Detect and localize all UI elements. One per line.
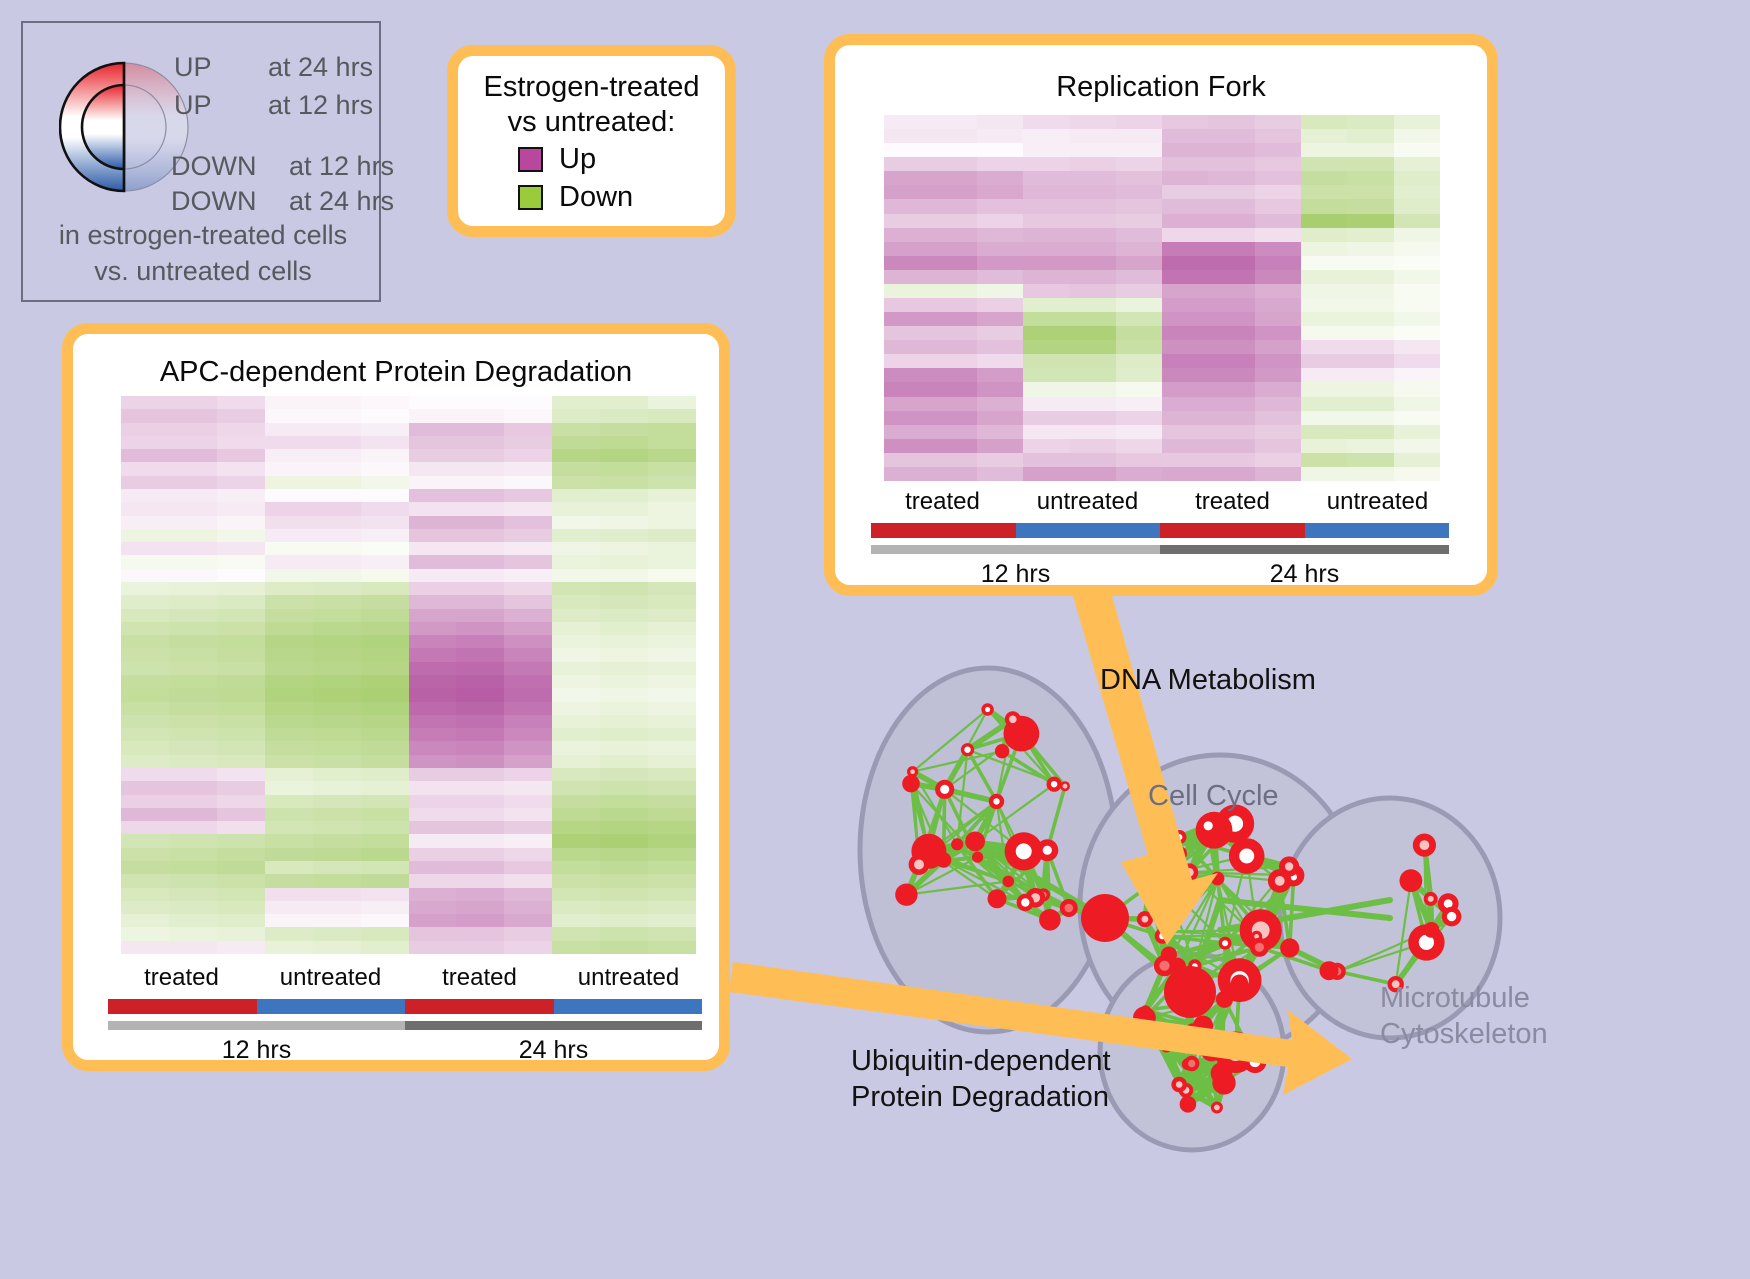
rf-bar-treated-12	[871, 523, 1016, 538]
apc-timebar-24	[405, 1021, 702, 1030]
apc-timepoint-bar	[108, 1021, 702, 1030]
rf-timepoint-labels: 12 hrs 24 hrs	[871, 560, 1449, 589]
label-dna-metabolism: DNA Metabolism	[1100, 664, 1316, 697]
apc-title: APC-dependent Protein Degradation	[73, 356, 719, 389]
colour-key-box: UP at 24 hrs UP at 12 hrs DOWN at 12 hrs…	[21, 21, 381, 302]
label-microtubule-cytoskeleton: Microtubule Cytoskeleton	[1380, 980, 1548, 1053]
apc-bar-untreated-24	[554, 999, 703, 1014]
key-footer-line2: vs. untreated cells	[23, 254, 383, 290]
rf-group-label-2: treated	[1160, 488, 1305, 516]
rf-group-label-1: untreated	[1015, 488, 1160, 516]
key-footer: in estrogen-treated cells vs. untreated …	[23, 218, 383, 289]
key-label-up-12: UP	[174, 90, 212, 121]
legend-heading-line2: vs untreated:	[458, 105, 725, 140]
replication-fork-heatmap	[884, 115, 1440, 481]
rf-group-label-0: treated	[870, 488, 1015, 516]
legend-label-up: Up	[559, 145, 596, 174]
replication-fork-panel: Replication Fork treated untreated treat…	[824, 34, 1498, 596]
apc-group-label-2: treated	[405, 964, 554, 992]
legend-swatch-down	[518, 185, 543, 210]
legend-heading-line1: Estrogen-treated	[458, 70, 725, 105]
rf-bar-untreated-12	[1016, 523, 1161, 538]
legend-heading: Estrogen-treated vs untreated:	[458, 70, 725, 141]
apc-bar-treated-24	[405, 999, 554, 1014]
key-time-down-12: at 12 hrs	[289, 151, 394, 182]
apc-bar-treated-12	[108, 999, 257, 1014]
rf-timebar-24	[1160, 545, 1449, 554]
key-time-up-24: at 24 hrs	[268, 52, 373, 83]
key-time-up-12: at 12 hrs	[268, 90, 373, 121]
rf-bar-untreated-24	[1305, 523, 1450, 538]
apc-group-label-3: untreated	[554, 964, 703, 992]
key-label-up-24: UP	[174, 52, 212, 83]
rf-timebar-12	[871, 545, 1160, 554]
legend-item-down: Down	[518, 183, 633, 212]
key-label-down-24: DOWN	[171, 186, 256, 217]
rf-group-label-3: untreated	[1305, 488, 1450, 516]
key-footer-line1: in estrogen-treated cells	[23, 218, 383, 254]
label-cell-cycle: Cell Cycle	[1148, 780, 1279, 813]
figure-canvas: UP at 24 hrs UP at 12 hrs DOWN at 12 hrs…	[0, 0, 1750, 1279]
legend-item-up: Up	[518, 145, 596, 174]
legend-label-down: Down	[559, 183, 633, 212]
key-label-down-12: DOWN	[171, 151, 256, 182]
apc-group-label-1: untreated	[256, 964, 405, 992]
apc-bar-untreated-12	[257, 999, 406, 1014]
rf-group-colour-bar	[871, 523, 1449, 538]
apc-time-label-24: 24 hrs	[405, 1036, 702, 1065]
apc-heatmap	[121, 396, 696, 954]
pathway-network-diagram	[790, 600, 1750, 1279]
updown-legend-panel: Estrogen-treated vs untreated: Up Down	[447, 45, 736, 237]
rf-group-labels: treated untreated treated untreated	[870, 488, 1450, 516]
legend-swatch-up	[518, 147, 543, 172]
apc-panel: APC-dependent Protein Degradation treate…	[62, 323, 730, 1071]
rf-bar-treated-24	[1160, 523, 1305, 538]
up-down-ring-key-icon	[59, 47, 189, 207]
label-ubiquitin-protein-degradation: Ubiquitin-dependent Protein Degradation	[851, 1043, 1111, 1116]
apc-group-colour-bar	[108, 999, 702, 1014]
apc-group-labels: treated untreated treated untreated	[107, 964, 703, 992]
apc-timepoint-labels: 12 hrs 24 hrs	[108, 1036, 702, 1065]
apc-time-label-12: 12 hrs	[108, 1036, 405, 1065]
apc-timebar-12	[108, 1021, 405, 1030]
rf-timepoint-bar	[871, 545, 1449, 554]
rf-time-label-12: 12 hrs	[871, 560, 1160, 589]
key-time-down-24: at 24 hrs	[289, 186, 394, 217]
apc-group-label-0: treated	[107, 964, 256, 992]
rf-time-label-24: 24 hrs	[1160, 560, 1449, 589]
replication-fork-title: Replication Fork	[835, 71, 1487, 104]
